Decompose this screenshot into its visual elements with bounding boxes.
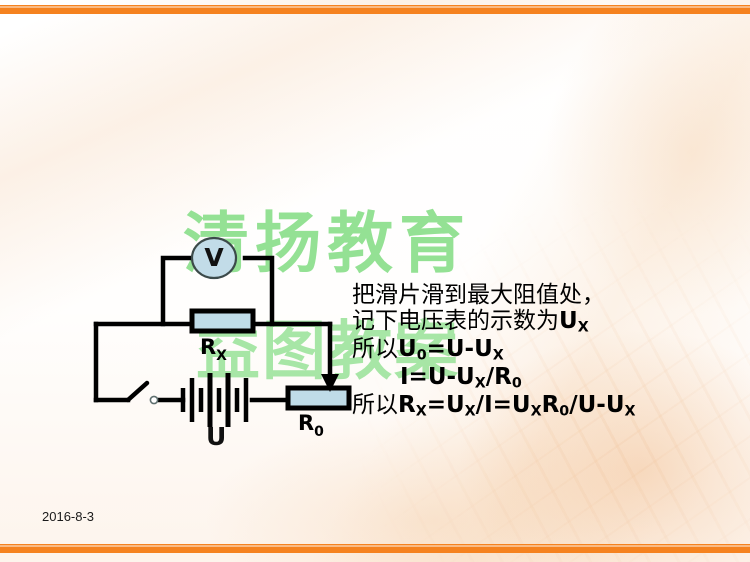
battery-symbol: [183, 373, 246, 427]
voltmeter-label: V: [204, 243, 224, 272]
explanation-line-2-sub: X: [578, 320, 589, 336]
wire-voltmeter-right: [245, 258, 272, 324]
explanation-line-4-formula: I=U-U: [400, 364, 475, 390]
voltmeter-circle: [192, 238, 236, 278]
explanation-text: 把滑片滑到最大阻值处， 记下电压表的示数为UX 所以U0=U-UX I=U-UX…: [352, 282, 744, 420]
explanation-line-5-eq1: =U: [427, 392, 465, 418]
circuit-diagram: V RX R0 U: [0, 0, 750, 562]
top-bar-highlight: [0, 6, 750, 8]
explanation-line-5-sub-1: X: [465, 404, 476, 420]
label-rx: RX: [200, 335, 227, 364]
explanation-line-5-eq3: R: [542, 392, 560, 418]
switch-contact-dot: [150, 396, 157, 403]
resistor-rx-body: [192, 311, 253, 331]
explanation-line-5-prefix: 所以: [352, 392, 398, 418]
explanation-line-4-sub-a: X: [475, 376, 486, 392]
explanation-line-4-sub-b: 0: [512, 376, 522, 392]
explanation-line-3-sub-a: 0: [417, 348, 427, 364]
switch-blade: [128, 383, 147, 400]
explanation-line-5: 所以RX=UX/I=UXR0/U-UX: [352, 392, 744, 420]
explanation-line-2: 记下电压表的示数为UX: [352, 308, 744, 336]
explanation-line-5-sub-4: X: [625, 404, 636, 420]
label-rx-sub: X: [216, 348, 227, 364]
wire-voltmeter-left: [163, 258, 199, 324]
explanation-line-3: 所以U0=U-UX: [352, 336, 744, 364]
explanation-line-3-prefix: 所以: [352, 336, 398, 362]
switch-symbol: [128, 383, 158, 404]
explanation-line-1: 把滑片滑到最大阻值处，: [352, 282, 744, 308]
background-photo: [0, 0, 750, 562]
voltmeter-symbol: [192, 238, 236, 278]
rheostat-r0-body: [288, 388, 349, 408]
explanation-line-3-a: U: [398, 336, 417, 362]
slide-canvas: 清扬教育 益图教案: [0, 0, 750, 562]
explanation-line-2-prefix: 记下电压表的示数为: [352, 308, 559, 334]
watermark-line-1: 清扬教育: [183, 190, 471, 286]
label-r0-sub: 0: [314, 424, 324, 440]
explanation-line-5-sub-2: X: [531, 404, 542, 420]
explanation-line-2-symbol: U: [559, 308, 578, 334]
label-battery: U: [206, 422, 226, 451]
top-accent-bar: [0, 5, 750, 14]
explanation-line-5-eq4: /U-U: [569, 392, 624, 418]
explanation-line-3-sub-b: X: [493, 348, 504, 364]
rheostat-slider-arrow: [321, 374, 339, 392]
explanation-line-5-sub-3: 0: [559, 404, 569, 420]
date-stamp: 2016-8-3: [42, 509, 94, 524]
label-r0: R0: [298, 411, 324, 440]
explanation-line-3-mid: =U-U: [427, 336, 493, 362]
explanation-line-5-eq2: /I=U: [476, 392, 531, 418]
explanation-line-5-sub-r: X: [416, 404, 427, 420]
bottom-accent-bar: [0, 544, 750, 553]
explanation-line-5-r: R: [398, 392, 416, 418]
label-r0-main: R: [298, 411, 314, 435]
bottom-bar-highlight: [0, 545, 750, 547]
explanation-line-4: I=U-UX/R0: [352, 364, 744, 392]
label-rx-main: R: [200, 335, 216, 359]
explanation-line-4-mid: /R: [486, 364, 512, 390]
